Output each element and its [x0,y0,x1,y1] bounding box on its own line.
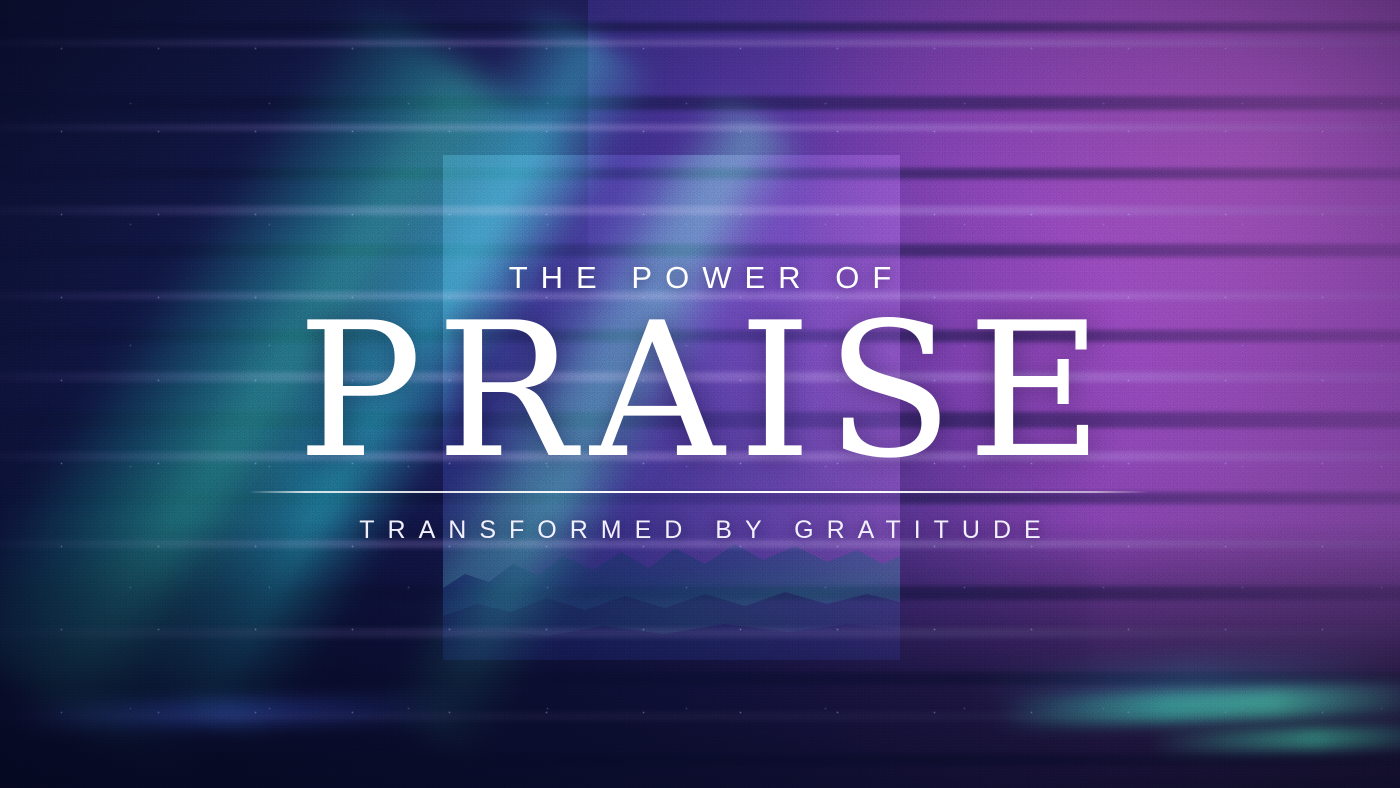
page-title: PRAISE [0,311,1400,471]
title-slide: THE POWER OF PRAISE TRANSFORMED BY GRATI… [0,0,1400,788]
subtitle-text: TRANSFORMED BY GRATITUDE [0,518,1400,543]
title-lockup: THE POWER OF PRAISE TRANSFORMED BY GRATI… [0,262,1400,543]
divider [251,491,1149,493]
